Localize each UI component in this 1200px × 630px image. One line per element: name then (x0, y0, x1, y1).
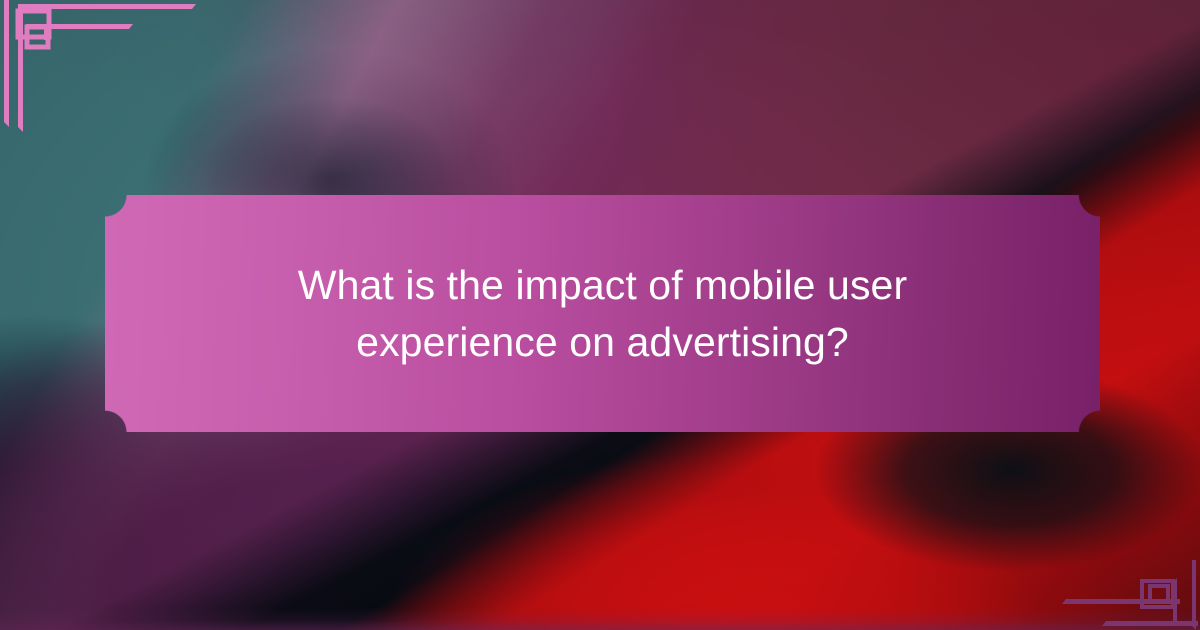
question-headline: What is the impact of mobile user experi… (273, 257, 933, 370)
social-card-canvas: What is the impact of mobile user experi… (0, 0, 1200, 630)
top-left-corner-ornament (0, 0, 210, 135)
question-card: What is the impact of mobile user experi… (105, 195, 1100, 432)
bottom-right-corner-ornament (1040, 560, 1200, 630)
corner-bracket-icon (0, 0, 210, 135)
corner-bracket-icon (1040, 560, 1200, 630)
